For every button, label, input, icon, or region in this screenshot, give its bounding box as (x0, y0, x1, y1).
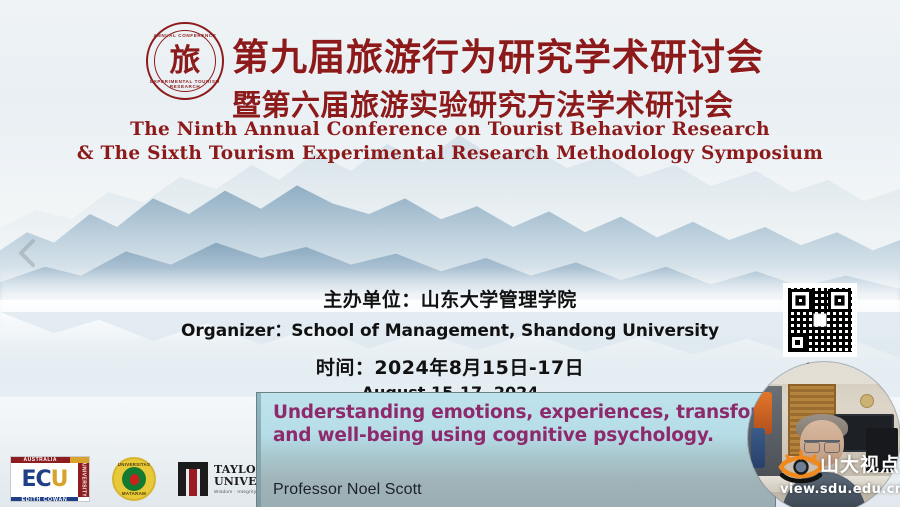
slide-title-line2: and well-being using cognitive psycholog… (273, 424, 771, 447)
presentation-slide-panel: Understanding emotions, experiences, tra… (256, 392, 776, 507)
ecu-footer-label: EDITH COWAN (11, 497, 78, 502)
logo-edith-cowan-university: AUSTRALIA ECU UNIVERSITY EDITH COWAN (10, 456, 90, 502)
slide-title-line1: Understanding emotions, experiences, tra… (273, 401, 771, 424)
conference-title-en: The Ninth Annual Conference on Tourist B… (0, 118, 900, 167)
qr-finder-bottom-left (789, 334, 806, 351)
slide-title: Understanding emotions, experiences, tra… (273, 401, 771, 448)
qr-code[interactable] (783, 283, 857, 357)
conference-title-cn-primary: 第九届旅游行为研究学术研讨会 (232, 27, 764, 81)
livestream-screen: ANNUAL CONFERENCE 旅 EXPERIMENTAL TOURISM… (0, 0, 900, 507)
ecu-abbr: ECU (11, 463, 78, 497)
webcam-hanging-clothes-2 (751, 428, 765, 468)
webcam-wall-clock (860, 394, 874, 408)
logo-universitas-mataram: UNIVERSITAS MATARAM (112, 457, 156, 501)
conference-title-en-line2: & The Sixth Tourism Experimental Researc… (0, 142, 900, 166)
slide-presenter-name: Professor Noel Scott (273, 481, 422, 499)
mataram-emblem (122, 467, 146, 491)
chevron-left-icon[interactable] (14, 238, 40, 268)
webcam-person-glasses (804, 440, 840, 449)
seal-arc-top-text: ANNUAL CONFERENCE (148, 33, 222, 38)
webcam-ceiling (748, 362, 900, 384)
taylors-mark-icon (178, 462, 208, 496)
slide-left-accent-bar (257, 393, 261, 507)
organizer-en: Organizer：School of Management, Shandong… (0, 316, 900, 341)
organizer-cn: 主办单位：山东大学管理学院 (0, 285, 900, 312)
qr-center-logo (814, 314, 827, 327)
mataram-flame-icon (130, 474, 139, 485)
ecu-body: ECU UNIVERSITY (11, 463, 89, 497)
ecu-side-label: UNIVERSITY (78, 463, 89, 497)
seal-arc-bottom-text: EXPERIMENTAL TOURISM RESEARCH (148, 79, 222, 89)
seal-glyph: 旅 (170, 46, 201, 77)
presenter-webcam-overlay[interactable] (748, 362, 900, 507)
conference-seal-icon: ANNUAL CONFERENCE 旅 EXPERIMENTAL TOURISM… (146, 22, 224, 100)
mataram-bottom-text: MATARAM (114, 491, 154, 496)
conference-title-en-line1: The Ninth Annual Conference on Tourist B… (0, 118, 900, 142)
partner-logos: AUSTRALIA ECU UNIVERSITY EDITH COWAN UNI… (10, 456, 296, 502)
webcam-monitor-secondary (866, 428, 898, 472)
qr-code-matrix (788, 288, 852, 352)
